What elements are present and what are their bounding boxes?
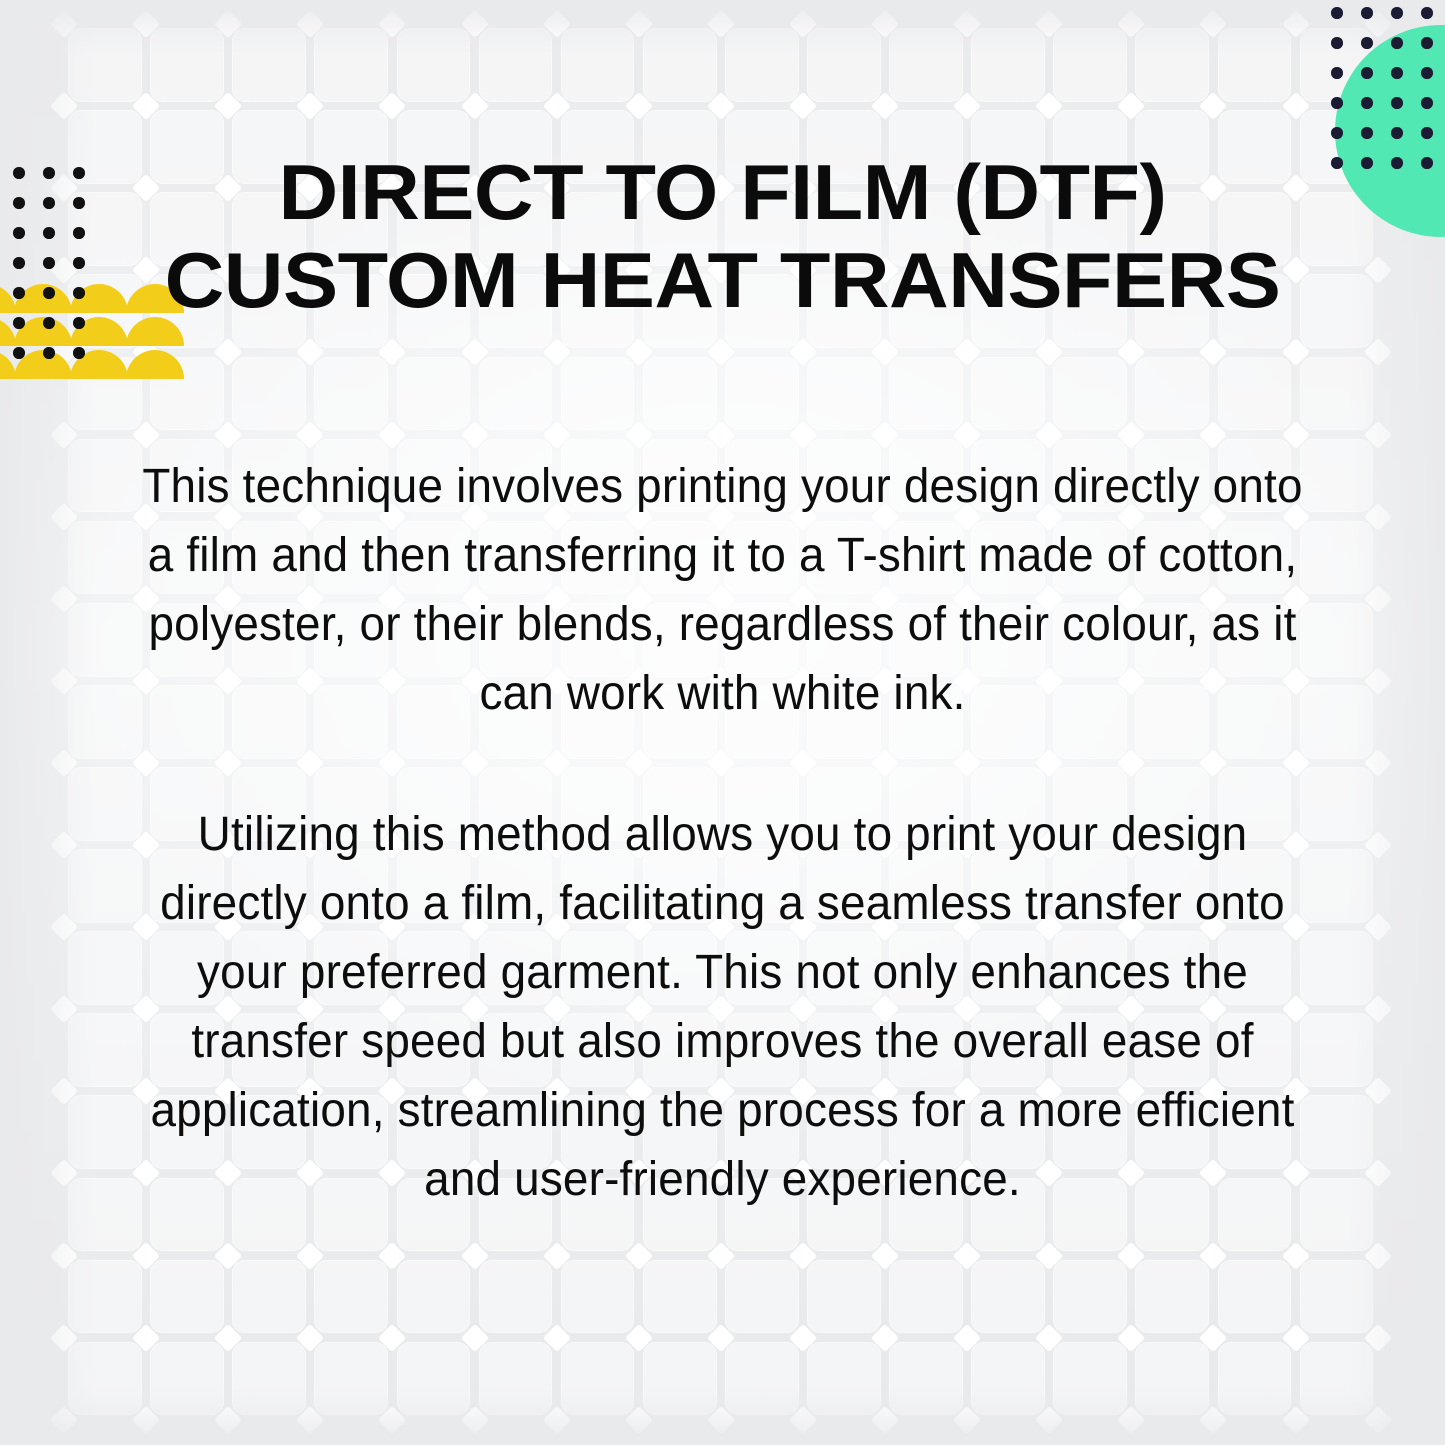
body-copy: This technique involves printing your de…: [96, 452, 1349, 1214]
poster-content: DIRECT TO FILM (DTF) CUSTOM HEAT TRANSFE…: [0, 0, 1445, 1445]
poster-canvas: DIRECT TO FILM (DTF) CUSTOM HEAT TRANSFE…: [0, 0, 1445, 1445]
body-paragraph-1: This technique involves printing your de…: [124, 452, 1321, 728]
body-paragraph-2: Utilizing this method allows you to prin…: [124, 800, 1321, 1214]
page-title: DIRECT TO FILM (DTF) CUSTOM HEAT TRANSFE…: [0, 148, 1445, 324]
